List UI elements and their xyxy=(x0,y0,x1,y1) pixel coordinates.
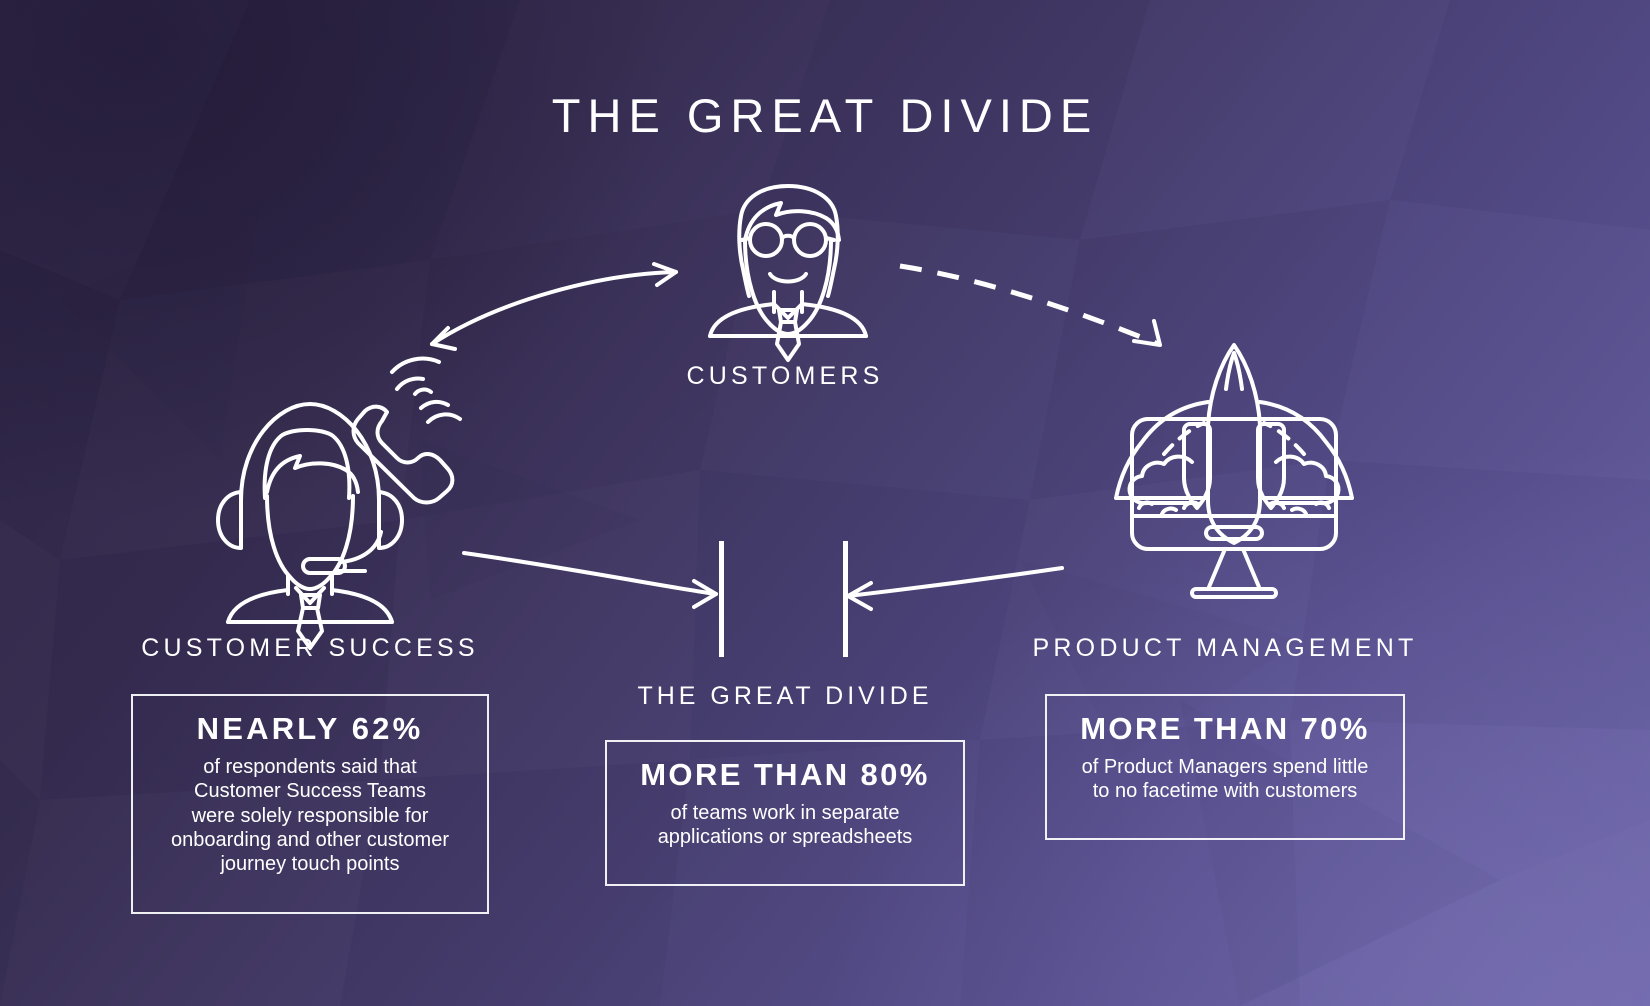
stat-headline-product-management: MORE THAN 70% xyxy=(1057,710,1393,749)
stat-body-customer-success: of respondents said thatCustomer Success… xyxy=(143,755,477,877)
stat-headline-divide: MORE THAN 80% xyxy=(617,756,953,795)
node-label-customer-success: CUSTOMER SUCCESS xyxy=(110,636,510,661)
node-label-product-management: PRODUCT MANAGEMENT xyxy=(1025,636,1425,661)
rocket-launching-from-monitor-icon xyxy=(1116,345,1352,597)
stat-box-product-management: MORE THAN 70% of Product Managers spend … xyxy=(1045,694,1405,840)
connector-product-management-divider xyxy=(848,568,1062,609)
stat-headline-customer-success: NEARLY 62% xyxy=(143,710,477,749)
stat-box-customer-success: NEARLY 62% of respondents said thatCusto… xyxy=(131,694,489,914)
headset-agent-with-phone-icon xyxy=(218,359,460,648)
page-title: THE GREAT DIVIDE xyxy=(0,90,1650,142)
stat-body-product-management: of Product Managers spend littleto no fa… xyxy=(1057,755,1393,804)
infographic-canvas: product management (dashed) -------- -->… xyxy=(0,0,1650,1006)
stat-body-divide: of teams work in separateapplications or… xyxy=(617,801,953,850)
divider-label: THE GREAT DIVIDE xyxy=(585,684,985,709)
connector-customer-success-divider xyxy=(464,553,716,607)
node-label-customers: CUSTOMERS xyxy=(585,364,985,389)
divider-bar-left xyxy=(719,541,724,657)
divider-bar-right xyxy=(843,541,848,657)
person-with-glasses-icon xyxy=(710,186,866,360)
connector-customers-customer-success xyxy=(432,264,676,349)
connector-customers-product-management xyxy=(900,266,1160,345)
stat-box-divide: MORE THAN 80% of teams work in separatea… xyxy=(605,740,965,886)
